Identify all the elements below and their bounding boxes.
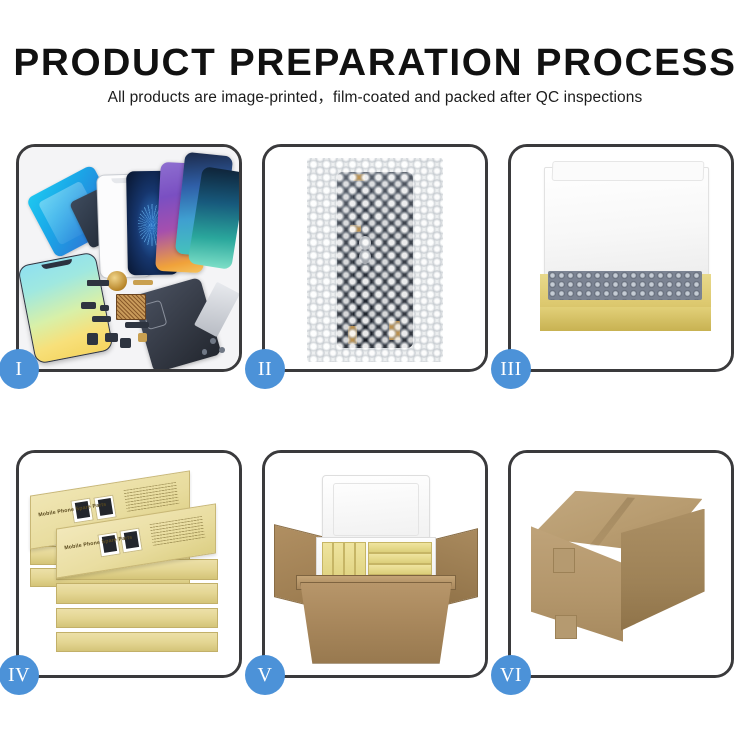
- small-component-5: [81, 302, 96, 309]
- bubble-wrap-bag: [307, 158, 443, 362]
- step-badge-1: I: [0, 349, 39, 389]
- stack-layer-7: [56, 632, 218, 653]
- stack-layer-6: [56, 608, 218, 629]
- step-1-image: [19, 147, 239, 369]
- small-component-1: [87, 333, 98, 344]
- step-panel-6: VI: [508, 450, 734, 678]
- bubble-wrap-filling: [548, 271, 702, 300]
- screw-3: [202, 349, 208, 355]
- small-component-2: [105, 333, 118, 342]
- foam-cooler-lid: [322, 475, 430, 544]
- flex-cable-part-1: [87, 280, 109, 286]
- flex-cable-part-2: [133, 280, 153, 285]
- screw-2: [219, 347, 225, 353]
- step-5-image: [265, 453, 485, 675]
- page-subtitle: All products are image-printed，film-coat…: [0, 90, 750, 106]
- carton-body: [300, 582, 452, 664]
- flex-cable-part-3: [125, 322, 149, 327]
- step-6-image: [511, 453, 731, 675]
- step-badge-4: IV: [0, 655, 39, 695]
- step-panel-5: V: [262, 450, 488, 678]
- step-badge-5: V: [245, 655, 285, 695]
- step-badge-3: III: [491, 349, 531, 389]
- carton-tape-patch-2: [555, 615, 577, 639]
- box-stack: Mobile Phone Spare Parts Mobile Phone Sp…: [28, 475, 230, 661]
- step-panel-1: I: [16, 144, 242, 372]
- bubble-texture-layer-2: [307, 158, 443, 362]
- inner-yellow-box-7: [368, 564, 432, 575]
- step-panel-4: Mobile Phone Spare Parts Mobile Phone Sp…: [16, 450, 242, 678]
- flex-cable-part-4: [92, 316, 112, 322]
- step-panel-3: III: [508, 144, 734, 372]
- inner-yellow-box-6: [368, 553, 432, 564]
- vibration-motor-part: [107, 271, 127, 291]
- step-panel-2: II: [262, 144, 488, 372]
- small-component-3: [120, 338, 131, 348]
- step-badge-2: II: [245, 349, 285, 389]
- stack-layer-5: [56, 583, 218, 604]
- small-component-4: [138, 333, 147, 342]
- process-steps-grid: I II: [16, 144, 734, 678]
- step-4-image: Mobile Phone Spare Parts Mobile Phone Sp…: [19, 453, 239, 675]
- white-foam-lid: [544, 167, 709, 284]
- circuit-board-part: [116, 294, 147, 320]
- product-preparation-infographic: PRODUCT PREPARATION PROCESS All products…: [0, 0, 750, 750]
- carton-tape-patch-1: [553, 548, 575, 572]
- screw-1: [210, 338, 216, 344]
- inner-yellow-box-5: [368, 542, 432, 553]
- page-title: PRODUCT PREPARATION PROCESS: [0, 44, 750, 82]
- step-badge-6: VI: [491, 655, 531, 695]
- yellow-box-front-panel: [540, 307, 712, 331]
- small-component-6: [100, 305, 109, 312]
- step-3-image: [511, 147, 731, 369]
- step-2-image: [265, 147, 485, 369]
